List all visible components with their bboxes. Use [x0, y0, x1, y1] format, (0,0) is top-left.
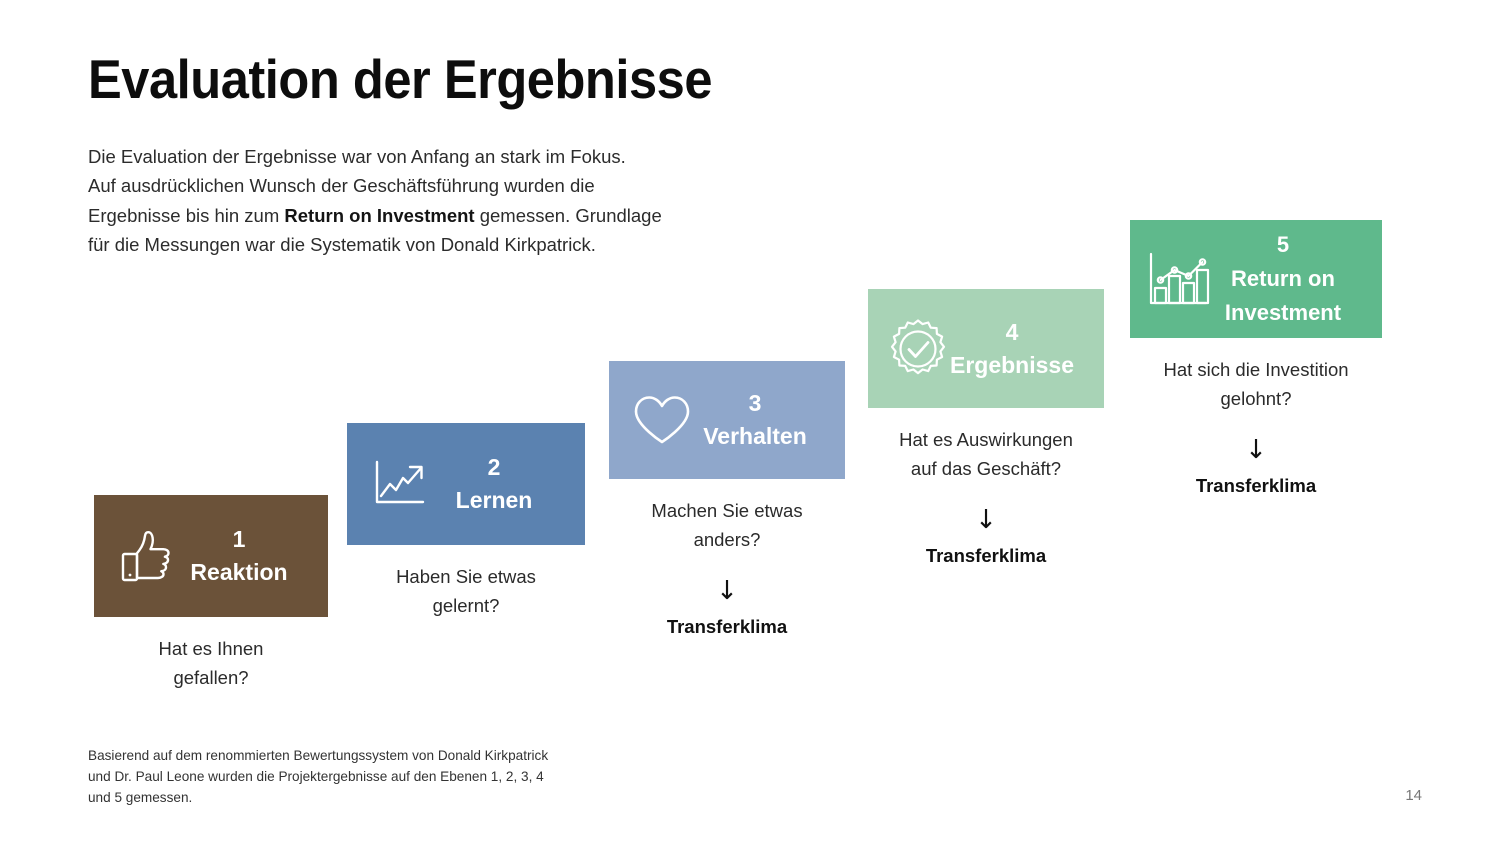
step-card-1-reaktion[interactable]: 1 Reaktion Hat es Ihnen gefallen?	[94, 495, 328, 692]
intro-line-4: für die Messungen war die Systematik von…	[88, 234, 596, 255]
intro-emphasis-roi: Return on Investment	[284, 205, 474, 226]
step-5-caption-line-1: Hat sich die Investition	[1163, 359, 1348, 380]
step-4-caption-line-1: Hat es Auswirkungen	[899, 429, 1073, 450]
step-4-caption-line-2: auf das Geschäft?	[911, 458, 1061, 479]
step-5-down-arrow-icon: ↓	[1130, 413, 1382, 465]
step-2-name: Lernen	[403, 484, 585, 517]
step-3-name: Verhalten	[665, 420, 845, 453]
step-2-box[interactable]: 2 Lernen	[347, 423, 585, 545]
step-5-caption-line-2: gelohnt?	[1221, 388, 1292, 409]
step-2-box-text: 2 Lernen	[347, 451, 585, 517]
intro-line-3-post: gemessen. Grundlage	[475, 205, 662, 226]
step-3-caption-line-2: anders?	[694, 529, 761, 550]
footnote: Basierend auf dem renommierten Bewertung…	[88, 745, 558, 808]
intro-line-3-pre: Ergebnisse bis hin zum	[88, 205, 284, 226]
step-card-4-ergebnisse[interactable]: 4 Ergebnisse Hat es Auswirkungen auf das…	[868, 289, 1104, 569]
step-1-name: Reaktion	[150, 556, 328, 589]
step-2-number: 2	[403, 451, 585, 484]
step-5-box[interactable]: 5 Return on Investment	[1130, 220, 1382, 338]
step-3-box-text: 3 Verhalten	[609, 387, 845, 453]
step-3-box[interactable]: 3 Verhalten	[609, 361, 845, 479]
step-1-number: 1	[150, 523, 328, 556]
step-5-transfer-label: Transferklima	[1130, 465, 1382, 499]
page-number: 14	[1405, 787, 1422, 804]
step-card-3-verhalten[interactable]: 3 Verhalten Machen Sie etwas anders? ↓ T…	[609, 361, 845, 640]
step-5-box-text: 5 Return on Investment	[1130, 228, 1382, 330]
step-1-caption-line-2: gefallen?	[173, 667, 248, 688]
step-5-name: Return on Investment	[1184, 262, 1382, 330]
step-4-name: Ergebnisse	[920, 349, 1104, 382]
step-2-caption: Haben Sie etwas gelernt?	[347, 545, 585, 620]
step-2-caption-line-2: gelernt?	[433, 595, 500, 616]
step-5-number: 5	[1184, 228, 1382, 262]
step-4-down-arrow-icon: ↓	[868, 483, 1104, 535]
step-1-box-text: 1 Reaktion	[94, 523, 328, 589]
step-2-caption-line-1: Haben Sie etwas	[396, 566, 536, 587]
step-3-caption-line-1: Machen Sie etwas	[651, 500, 802, 521]
step-4-caption: Hat es Auswirkungen auf das Geschäft?	[868, 408, 1104, 483]
step-3-number: 3	[665, 387, 845, 420]
intro-line-2: Auf ausdrücklichen Wunsch der Geschäftsf…	[88, 175, 595, 196]
step-1-caption-line-1: Hat es Ihnen	[159, 638, 264, 659]
step-card-2-lernen[interactable]: 2 Lernen Haben Sie etwas gelernt?	[347, 423, 585, 620]
step-3-transfer-label: Transferklima	[609, 606, 845, 640]
step-3-caption: Machen Sie etwas anders?	[609, 479, 845, 554]
step-5-caption: Hat sich die Investition gelohnt?	[1130, 338, 1382, 413]
slide-canvas: Evaluation der Ergebnisse Die Evaluation…	[0, 0, 1500, 844]
page-title: Evaluation der Ergebnisse	[88, 48, 712, 110]
step-3-down-arrow-icon: ↓	[609, 554, 845, 606]
step-card-5-return-on-investment[interactable]: 5 Return on Investment Hat sich die Inve…	[1130, 220, 1382, 499]
step-4-number: 4	[920, 316, 1104, 349]
step-1-box[interactable]: 1 Reaktion	[94, 495, 328, 617]
step-1-caption: Hat es Ihnen gefallen?	[94, 617, 328, 692]
intro-line-1: Die Evaluation der Ergebnisse war von An…	[88, 146, 626, 167]
intro-paragraph: Die Evaluation der Ergebnisse war von An…	[88, 142, 788, 260]
step-4-transfer-label: Transferklima	[868, 535, 1104, 569]
step-4-box[interactable]: 4 Ergebnisse	[868, 289, 1104, 408]
step-4-box-text: 4 Ergebnisse	[868, 316, 1104, 382]
